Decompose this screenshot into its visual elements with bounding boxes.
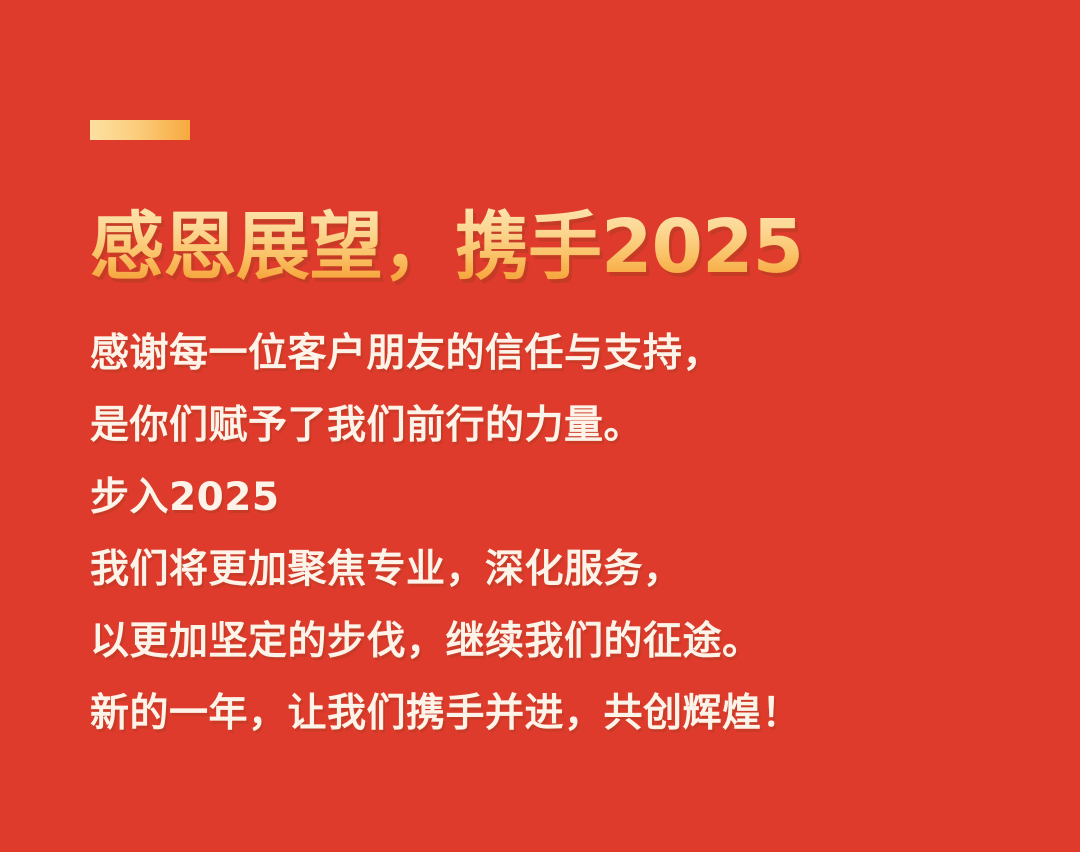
body-line: 以更加坚定的步伐，继续我们的征途。: [90, 606, 990, 678]
poster-canvas: 感恩展望，携手2025 感谢每一位客户朋友的信任与支持， 是你们赋予了我们前行的…: [0, 0, 1080, 852]
body-line: 我们将更加聚焦专业，深化服务，: [90, 534, 990, 606]
body-line: 步入2025: [90, 462, 990, 534]
page-title: 感恩展望，携手2025: [90, 208, 803, 288]
accent-bar-decoration: [90, 120, 190, 140]
body-line: 新的一年，让我们携手并进，共创辉煌！: [90, 678, 990, 750]
body-line: 感谢每一位客户朋友的信任与支持，: [90, 318, 990, 390]
body-copy-block: 感谢每一位客户朋友的信任与支持， 是你们赋予了我们前行的力量。 步入2025 我…: [90, 318, 990, 750]
body-line: 是你们赋予了我们前行的力量。: [90, 390, 990, 462]
